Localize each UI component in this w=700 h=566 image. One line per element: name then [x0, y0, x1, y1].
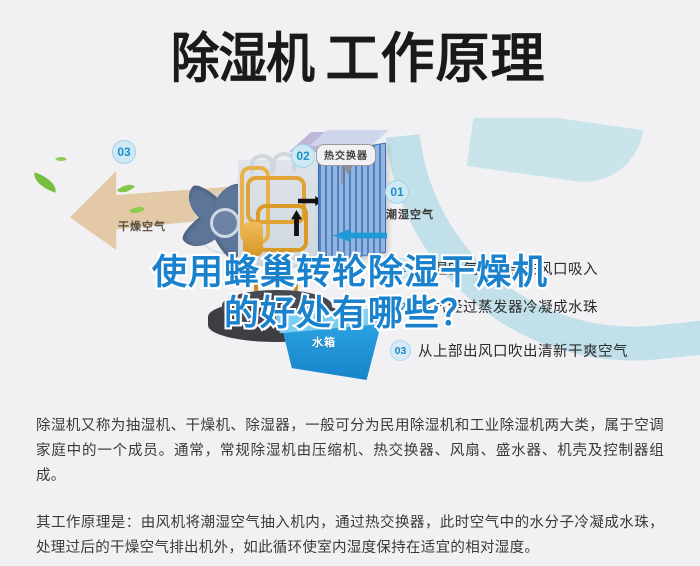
step-badge: 02 [390, 296, 411, 317]
step-item: 03 从上部出风口吹出清新干爽空气 [390, 340, 628, 361]
step-item: 01 潮湿空气由下部进风口吸入 [390, 258, 598, 279]
paragraph-1: 除湿机又称为抽湿机、干燥机、除湿器，一般可分为民用除湿机和工业除湿机两大类，属于… [0, 414, 700, 489]
step-list: 01 潮湿空气由下部进风口吸入 02 空气经过蒸发器冷凝成水珠 03 从上部出风… [0, 118, 700, 408]
page-title-part2: 工作原理 [326, 28, 546, 90]
step-text: 潮湿空气由下部进风口吸入 [418, 258, 598, 279]
dehumidifier-diagram: 干燥空气 03 热交换器 [0, 118, 700, 408]
paragraph-2: 其工作原理是：由风机将潮湿空气抽入机内，通过热交换器，此时空气中的水分子冷凝成水… [0, 511, 700, 561]
step-text: 空气经过蒸发器冷凝成水珠 [418, 296, 598, 317]
page-title: 除湿机工作原理 [0, 28, 700, 90]
page-root: 除湿机工作原理 干燥空气 03 [0, 0, 700, 566]
step-badge: 03 [390, 340, 411, 361]
step-badge: 01 [390, 258, 411, 279]
step-text: 从上部出风口吹出清新干爽空气 [418, 340, 628, 361]
article-body: 除湿机又称为抽湿机、干燥机、除湿器，一般可分为民用除湿机和工业除湿机两大类，属于… [0, 414, 700, 561]
page-title-part1: 除湿机 [170, 28, 313, 90]
step-item: 02 空气经过蒸发器冷凝成水珠 [390, 296, 598, 317]
